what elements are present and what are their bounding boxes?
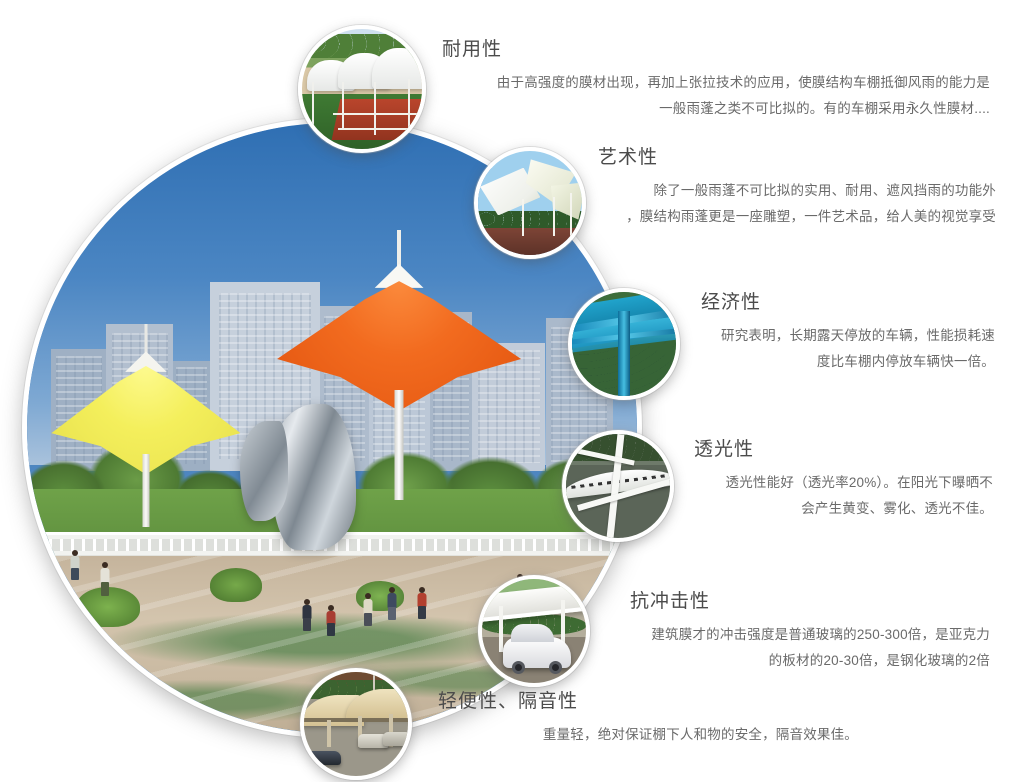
canopy-support-pole (395, 390, 404, 499)
plaza-steps (186, 642, 406, 668)
pedestrian-body (418, 593, 427, 607)
court-line (338, 128, 415, 130)
parked-car (383, 732, 412, 746)
pedestrian (70, 550, 80, 580)
parking-lot-carport-scene (304, 672, 408, 776)
pedestrian (387, 587, 397, 620)
feature-line: 由于高强度的膜材出现，再加上张拉技术的应用，使膜结构车棚抵御风雨的能力是 (438, 70, 990, 96)
pedestrian-legs (364, 613, 372, 626)
feature-title-impact-resistance: 抗冲击性 (630, 592, 990, 613)
pedestrian-legs (71, 568, 79, 580)
pedestrian-body (101, 568, 110, 583)
pedestrian (363, 593, 373, 626)
carport-with-car-scene (482, 579, 586, 683)
yellow-membrane-canopy (51, 343, 240, 489)
running-track (478, 228, 582, 255)
feature-thumbnail-impact-resistance[interactable] (478, 575, 590, 687)
support-cable (522, 199, 524, 236)
parked-car (306, 751, 341, 765)
feature-line: 除了一般雨蓬不可比拟的实用、耐用、遮风挡雨的功能外 (598, 178, 996, 204)
pedestrian (326, 605, 336, 636)
feature-thumbnail-durability[interactable] (298, 25, 426, 153)
pedestrian-legs (388, 607, 396, 620)
feature-line: ，膜结构雨蓬更是一座雕塑，一件艺术品，给人美的视觉享受 (598, 204, 996, 230)
pedestrian-legs (327, 623, 335, 636)
red-court (331, 99, 424, 140)
canopy-leg (342, 82, 344, 130)
feature-title-economy: 经济性 (695, 293, 995, 314)
feature-block-durability: 耐用性 由于高强度的膜材出现，再加上张拉技术的应用，使膜结构车棚抵御风雨的能力是… (438, 40, 990, 123)
canopy-leg (312, 82, 314, 125)
canopy-mast (144, 324, 147, 356)
parked-suv (503, 637, 572, 668)
steel-column (618, 311, 630, 396)
shrub (210, 568, 262, 602)
carport-post (327, 720, 331, 747)
feature-title-light-transmission: 透光性 (688, 440, 993, 461)
feature-thumbnail-artistry[interactable] (474, 147, 586, 259)
pedestrian-body (363, 599, 372, 614)
support-cable (570, 193, 572, 237)
membrane-detail-scene (566, 434, 670, 538)
pedestrian-legs (101, 582, 109, 596)
infographic-page: 耐用性 由于高强度的膜材出现，再加上张拉技术的应用，使膜结构车棚抵御风雨的能力是… (0, 0, 1023, 782)
feature-block-artistry: 艺术性 除了一般雨蓬不可比拟的实用、耐用、遮风挡雨的功能外 ，膜结构雨蓬更是一座… (598, 148, 996, 231)
orange-membrane-canopy (277, 257, 521, 428)
canopy-leg (374, 82, 376, 135)
feature-title-durability: 耐用性 (438, 40, 990, 61)
membrane-canopy (372, 48, 426, 89)
feature-block-impact-resistance: 抗冲击性 建筑膜才的冲击强度是普通玻璃的250-300倍，是亚克力 的板材的20… (630, 592, 990, 675)
sail-canopy-scene (478, 151, 582, 255)
pedestrian (417, 587, 427, 619)
feature-line: 一般雨蓬之类不可比拟的。有的车棚采用永久性膜材.... (438, 96, 990, 122)
canopy-leg (408, 79, 410, 134)
pedestrian (100, 562, 110, 596)
wheel (512, 661, 525, 674)
support-cable (553, 197, 555, 237)
feature-line: 研究表明，长期露天停放的车辆，性能损耗速 (695, 323, 995, 349)
pedestrian-legs (418, 606, 426, 619)
canopy-rail (300, 718, 412, 722)
canopy-support-pole (142, 454, 149, 527)
feature-thumbnail-lightweight-soundproof[interactable] (300, 668, 412, 780)
feature-line: 透光性能好（透光率20%）。在阳光下曝晒不 (688, 470, 993, 496)
feature-title-artistry: 艺术性 (598, 148, 996, 169)
feature-line: 重量轻，绝对保证棚下人和物的安全，隔音效果佳。 (438, 722, 858, 748)
feature-title-lightweight-soundproof: 轻便性、隔音性 (438, 692, 858, 713)
feature-line: 建筑膜才的冲击强度是普通玻璃的250-300倍，是亚克力 (630, 622, 990, 648)
blue-steel-canopy-scene (572, 292, 676, 396)
feature-thumbnail-light-transmission[interactable] (562, 430, 674, 542)
feature-line: 度比车棚内停放车辆快一倍。 (695, 349, 995, 375)
feature-thumbnail-economy[interactable] (568, 288, 680, 400)
feature-block-lightweight-soundproof: 轻便性、隔音性 重量轻，绝对保证棚下人和物的安全，隔音效果佳。 (438, 692, 858, 748)
pedestrian (302, 599, 312, 631)
feature-block-economy: 经济性 研究表明，长期露天停放的车辆，性能损耗速 度比车棚内停放车辆快一倍。 (695, 293, 995, 376)
feature-line: 会产生黄变、雾化、透光不佳。 (688, 496, 993, 522)
pedestrian-legs (303, 618, 311, 631)
carport-post (499, 606, 503, 652)
pedestrian-body (302, 605, 311, 619)
tennis-court-canopy-scene (302, 29, 422, 149)
feature-line: 的板材的20-30倍，是钢化玻璃的2倍 (630, 648, 990, 674)
pedestrian-body (387, 593, 396, 608)
wheel (549, 661, 562, 674)
feature-block-light-transmission: 透光性 透光性能好（透光率20%）。在阳光下曝晒不 会产生黄变、雾化、透光不佳。 (688, 440, 993, 523)
